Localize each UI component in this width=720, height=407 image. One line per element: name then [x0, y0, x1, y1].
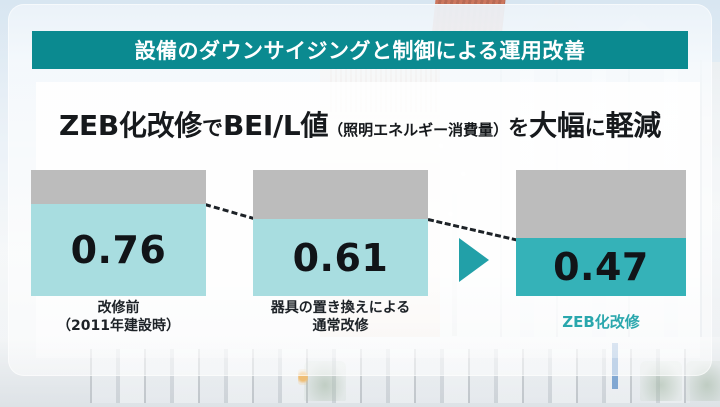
- infographic-stage: 設備のダウンサイジングと制御による運用改善 ZEB化改修でBEI/L値（照明エネ…: [0, 0, 720, 407]
- bar-item: 0.61: [253, 170, 428, 296]
- bar-value-label: 0.47: [553, 245, 649, 289]
- bar-caption-line1: 器具の置き換えによる: [243, 300, 438, 318]
- bar-gray-remainder: [253, 170, 428, 219]
- right-triangle-arrow-icon: [459, 238, 489, 282]
- bar-fill: 0.61: [253, 219, 428, 296]
- dashed-trend-line-icon: [205, 203, 256, 220]
- bar-caption: 改修前 （2011年建設時）: [31, 300, 206, 336]
- bar-gray-remainder: [31, 170, 206, 204]
- bar-caption-line2: 通常改修: [243, 318, 438, 336]
- bar-caption-line1: 改修前: [31, 300, 206, 318]
- bar-value-label: 0.61: [293, 236, 389, 280]
- bar-caption: 器具の置き換えによる 通常改修: [243, 300, 438, 336]
- bar-item: 0.76: [31, 170, 206, 296]
- bar-fill: 0.76: [31, 204, 206, 296]
- bar-value-label: 0.76: [71, 228, 167, 272]
- bar-caption-line2: （2011年建設時）: [31, 318, 206, 336]
- bar-caption-line1: ZEB化改修: [516, 313, 686, 332]
- bar-gray-remainder: [516, 170, 686, 238]
- bar-chart: 0.76 改修前 （2011年建設時） 0.61 器具の置き換えによる 通常改修…: [0, 0, 720, 407]
- bar-fill: 0.47: [516, 238, 686, 296]
- bar-item: 0.47: [516, 170, 686, 296]
- bar-caption: ZEB化改修: [516, 313, 686, 332]
